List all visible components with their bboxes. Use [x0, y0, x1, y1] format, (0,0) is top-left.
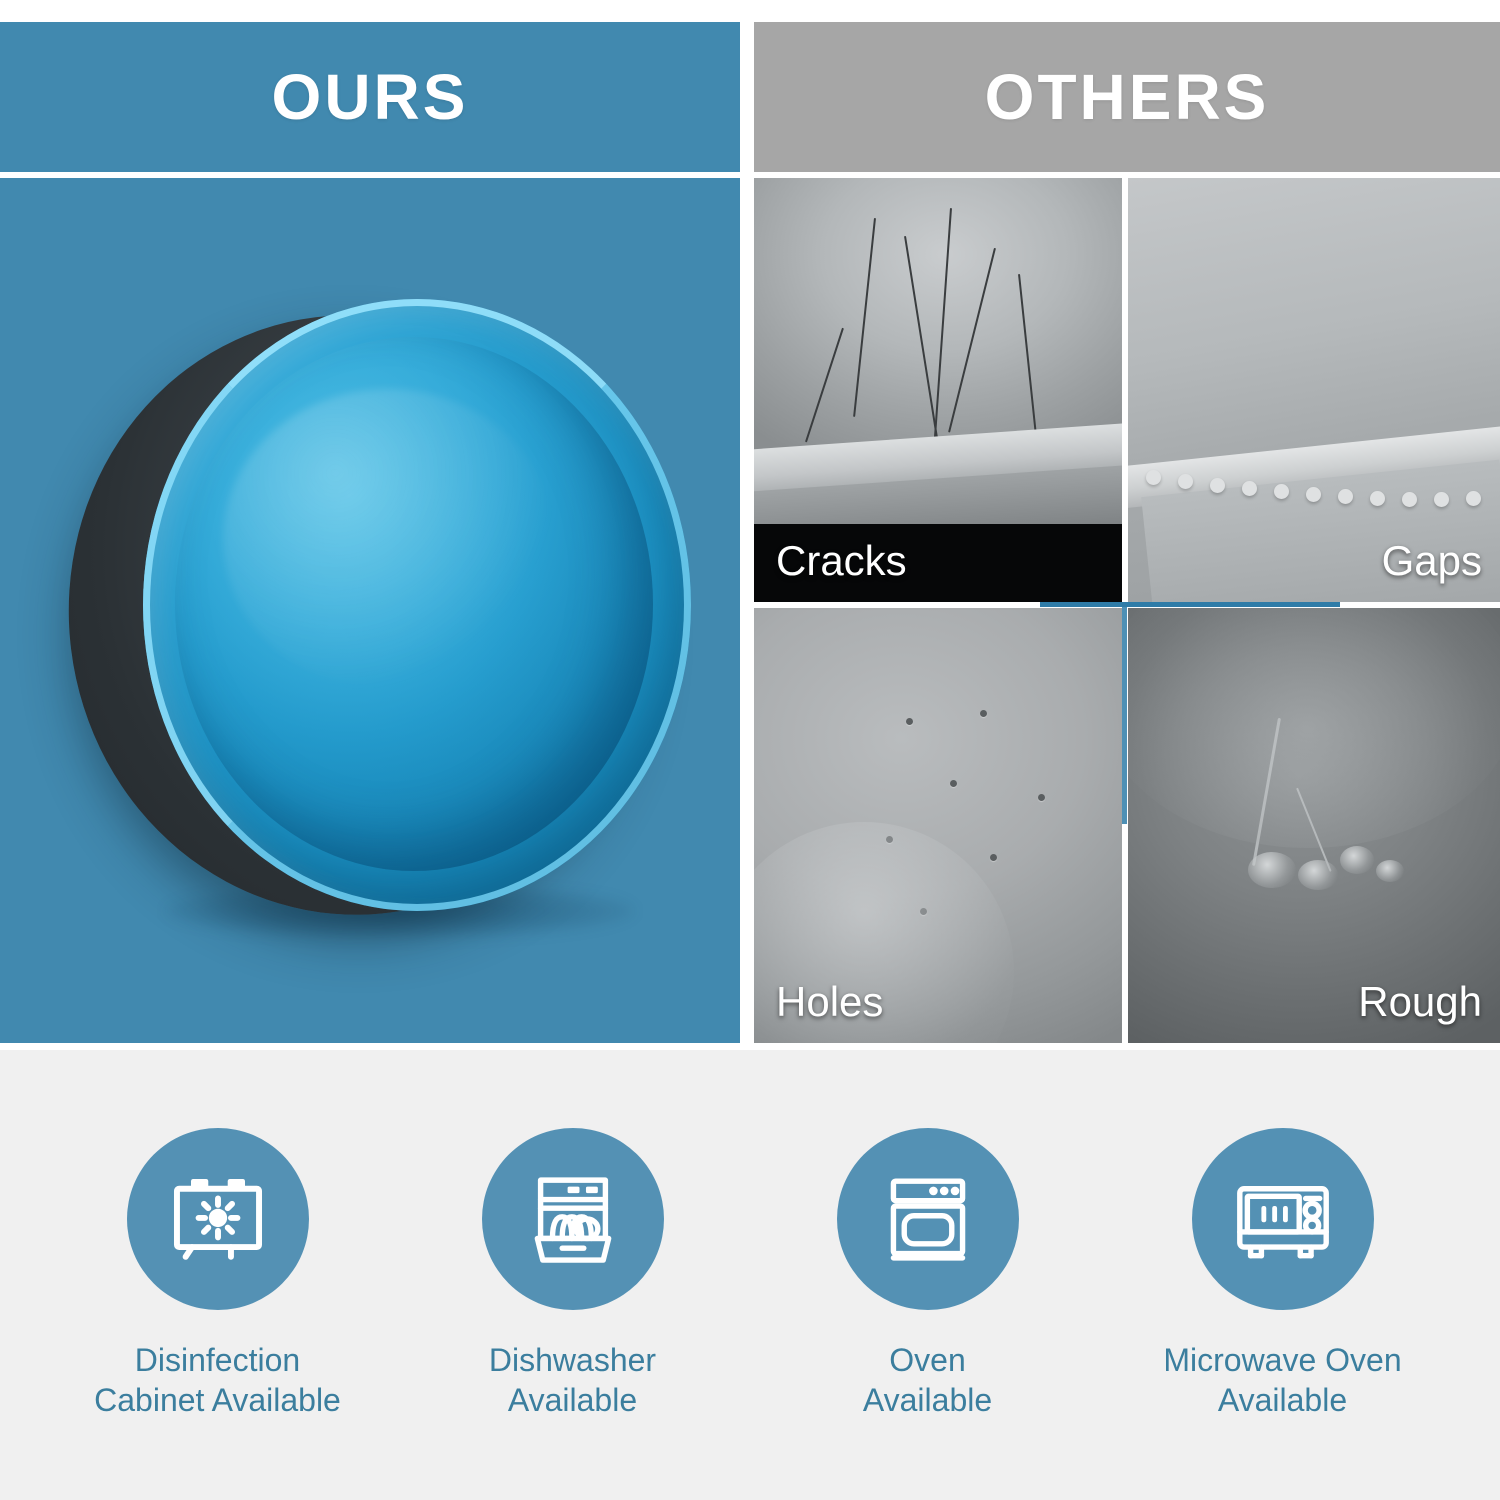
comparison-infographic: OURS OTHERS Cracks [0, 0, 1500, 1500]
feature-badge [837, 1128, 1019, 1310]
defect-label-holes: Holes [776, 981, 883, 1023]
product-bowl-image [55, 293, 695, 933]
pinhole [950, 780, 957, 787]
feature-caption: Dishwasher Available [489, 1340, 656, 1421]
gap-notch [1210, 478, 1225, 493]
others-banner: OTHERS [754, 22, 1500, 172]
feature-oven[interactable]: Oven Available [763, 1128, 1093, 1421]
gap-notch [1178, 474, 1193, 489]
feature-caption: Oven Available [863, 1340, 992, 1421]
grid-seam-vertical-top [1122, 178, 1128, 602]
defect-tile-cracks: Cracks [754, 178, 1122, 602]
ours-product-photo [0, 178, 740, 1043]
defect-tile-holes: Holes [754, 608, 1122, 1043]
gap-notch [1402, 492, 1417, 507]
bowl-rim [143, 299, 691, 911]
microwave-oven-icon [1229, 1165, 1337, 1273]
defect-tile-rough: Rough [1128, 608, 1500, 1043]
rough-blemish [1340, 846, 1374, 874]
feature-caption: Disinfection Cabinet Available [94, 1340, 341, 1421]
pinhole [1038, 794, 1045, 801]
feature-badge [1192, 1128, 1374, 1310]
gap-notch [1338, 489, 1353, 504]
gap-notch [1370, 491, 1385, 506]
disinfection-cabinet-icon [164, 1165, 272, 1273]
feature-dishwasher[interactable]: Dishwasher Available [408, 1128, 738, 1421]
rough-sheen [1128, 608, 1500, 848]
feature-badge [127, 1128, 309, 1310]
others-defect-grid: Cracks Gaps [754, 178, 1500, 1043]
defect-label-cracks: Cracks [776, 540, 907, 582]
gap-notch [1242, 481, 1257, 496]
feature-badge [482, 1128, 664, 1310]
defect-tile-gaps: Gaps [1128, 178, 1500, 602]
gap-notch [1146, 470, 1161, 485]
others-banner-label: OTHERS [985, 65, 1270, 129]
rough-blemish [1298, 860, 1338, 890]
oven-icon [874, 1165, 982, 1273]
gap-notch [1274, 484, 1289, 499]
gap-notch [1306, 487, 1321, 502]
accent-rule-horizontal [1040, 602, 1340, 607]
defect-label-rough: Rough [1358, 981, 1482, 1023]
accent-rule-vertical [1122, 602, 1127, 824]
ours-banner-label: OURS [272, 65, 469, 129]
ours-banner: OURS [0, 22, 740, 172]
pinhole [990, 854, 997, 861]
pinhole [906, 718, 913, 725]
rough-blemish [1248, 852, 1296, 888]
pinhole [980, 710, 987, 717]
gap-notch [1434, 492, 1449, 507]
feature-caption: Microwave Oven Available [1163, 1340, 1401, 1421]
feature-disinfection-cabinet[interactable]: Disinfection Cabinet Available [53, 1128, 383, 1421]
defect-label-gaps: Gaps [1382, 540, 1482, 582]
rough-blemish [1376, 860, 1404, 882]
gap-notch [1466, 491, 1481, 506]
feature-strip: Disinfection Cabinet Available [0, 1050, 1500, 1500]
dishwasher-icon [519, 1165, 627, 1273]
feature-microwave-oven[interactable]: Microwave Oven Available [1118, 1128, 1448, 1421]
